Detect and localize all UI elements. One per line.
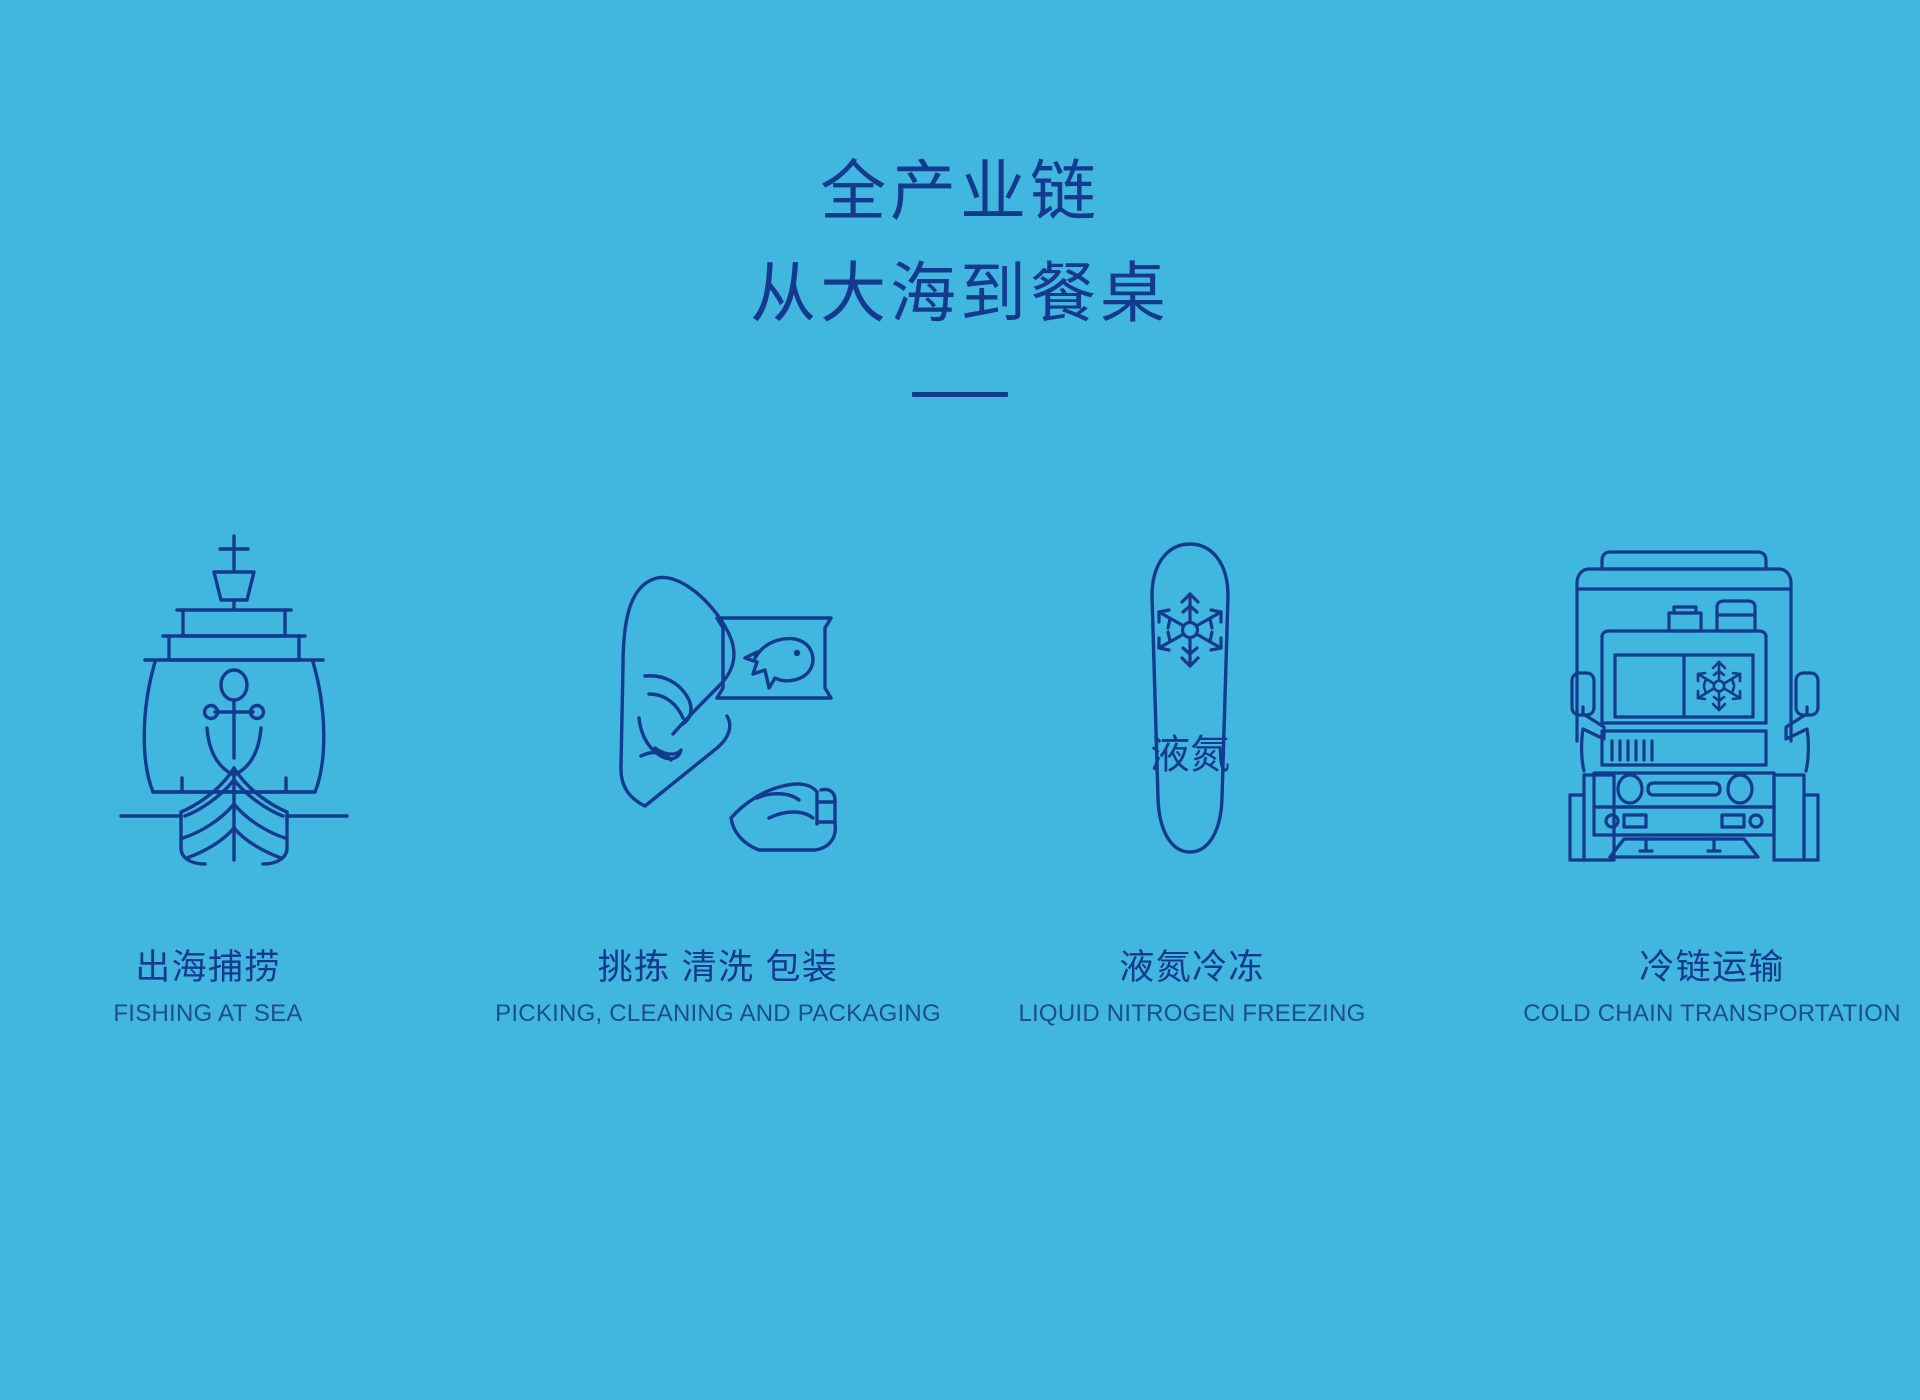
- step-picking-cleaning-packaging: 挑拣 清洗 包装 PICKING, CLEANING AND PACKAGING: [484, 520, 960, 1030]
- title-divider: [912, 392, 1008, 397]
- icon-slot-4: [1562, 520, 1814, 860]
- process-steps: 出海捕捞 FISHING AT SEA: [0, 520, 1920, 1030]
- icon-slot-1: [119, 520, 349, 860]
- step-3-label-en: LIQUID NITROGEN FREEZING: [954, 998, 1430, 1030]
- title-divider-wrap: [0, 384, 1920, 394]
- step-1-labels: 出海捕捞 FISHING AT SEA: [0, 946, 446, 1030]
- snowflake-icon: [1159, 594, 1221, 666]
- snowflake-icon: [1698, 662, 1740, 710]
- tank-text: 液氮: [1150, 733, 1230, 777]
- icon-slot-2: [599, 520, 849, 860]
- step-1-label-cn: 出海捕捞: [0, 946, 446, 990]
- step-liquid-nitrogen-freezing: 液氮 液氮冷冻 LIQUID NITROGEN FREEZING: [960, 520, 1436, 1030]
- step-cold-chain-transportation: 冷链运输 COLD CHAIN TRANSPORTATION: [1436, 520, 1912, 1030]
- page-title: 全产业链 从大海到餐桌: [0, 150, 1920, 394]
- title-line-secondary: 从大海到餐桌: [0, 252, 1920, 338]
- icon-slot-3: 液氮: [1130, 520, 1250, 860]
- fishing-boat-icon: [119, 530, 349, 860]
- refrigerated-truck-icon: [1562, 545, 1814, 860]
- infographic-canvas: 全产业链 从大海到餐桌: [0, 0, 1920, 1400]
- title-line-primary: 全产业链: [0, 150, 1920, 236]
- step-3-label-cn: 液氮冷冻: [954, 946, 1430, 990]
- step-3-labels: 液氮冷冻 LIQUID NITROGEN FREEZING: [954, 946, 1430, 1030]
- liquid-nitrogen-tank-icon: 液氮: [1130, 540, 1250, 860]
- step-2-label-cn: 挑拣 清洗 包装: [480, 946, 956, 990]
- step-fishing-at-sea: 出海捕捞 FISHING AT SEA: [8, 520, 484, 1030]
- step-2-label-en: PICKING, CLEANING AND PACKAGING: [480, 998, 956, 1030]
- step-4-label-en: COLD CHAIN TRANSPORTATION: [1474, 998, 1920, 1030]
- hands-fish-package-icon: [599, 570, 849, 860]
- step-1-label-en: FISHING AT SEA: [0, 998, 446, 1030]
- step-4-label-cn: 冷链运输: [1474, 946, 1920, 990]
- step-2-labels: 挑拣 清洗 包装 PICKING, CLEANING AND PACKAGING: [480, 946, 956, 1030]
- step-4-labels: 冷链运输 COLD CHAIN TRANSPORTATION: [1474, 946, 1920, 1030]
